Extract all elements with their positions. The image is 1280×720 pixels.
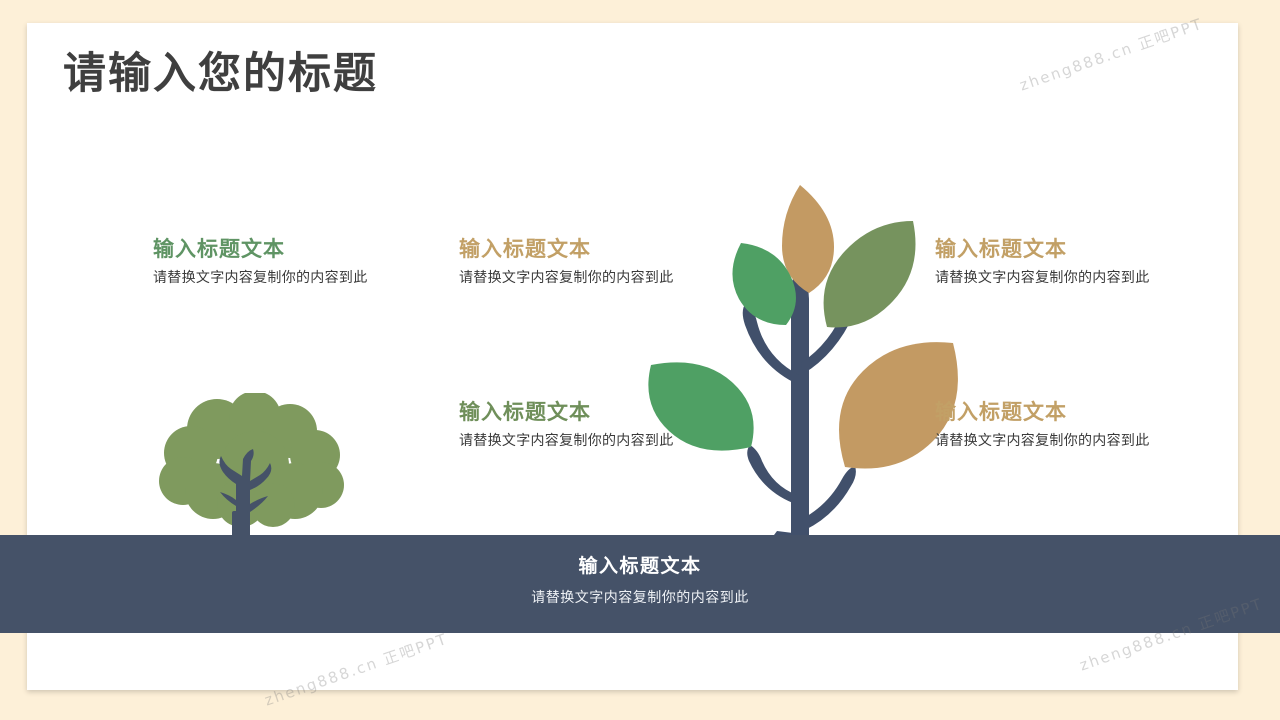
slide-stage: 请输入您的标题: [0, 0, 1280, 720]
info-block-top-left[interactable]: 输入标题文本 请替换文字内容复制你的内容到此: [153, 237, 368, 286]
info-block-bottom-right[interactable]: 输入标题文本 请替换文字内容复制你的内容到此: [935, 400, 1150, 449]
info-block-body: 请替换文字内容复制你的内容到此: [459, 268, 674, 286]
page-title: 请输入您的标题: [63, 50, 378, 99]
bottom-banner-heading: 输入标题文本: [0, 551, 1280, 578]
info-block-body: 请替换文字内容复制你的内容到此: [459, 431, 674, 449]
bottom-banner-content: 输入标题文本 请替换文字内容复制你的内容到此: [0, 535, 1280, 607]
info-block-heading: 输入标题文本: [935, 237, 1150, 263]
sprout-illustration-svg: [635, 173, 995, 565]
bottom-banner-body: 请替换文字内容复制你的内容到此: [0, 587, 1280, 607]
info-block-top-center[interactable]: 输入标题文本 请替换文字内容复制你的内容到此: [459, 237, 674, 286]
info-block-heading: 输入标题文本: [153, 237, 368, 263]
upper-right-olive-leaf: [824, 221, 916, 327]
info-block-body: 请替换文字内容复制你的内容到此: [935, 268, 1150, 286]
info-block-body: 请替换文字内容复制你的内容到此: [153, 268, 368, 286]
bottom-banner[interactable]: 输入标题文本 请替换文字内容复制你的内容到此: [0, 535, 1280, 633]
info-block-bottom-center[interactable]: 输入标题文本 请替换文字内容复制你的内容到此: [459, 400, 674, 449]
info-block-heading: 输入标题文本: [459, 400, 674, 426]
sprout-illustration: [635, 173, 995, 570]
info-block-heading: 输入标题文本: [935, 400, 1150, 426]
info-block-top-right[interactable]: 输入标题文本 请替换文字内容复制你的内容到此: [935, 237, 1150, 286]
info-block-body: 请替换文字内容复制你的内容到此: [935, 431, 1150, 449]
info-block-heading: 输入标题文本: [459, 237, 674, 263]
